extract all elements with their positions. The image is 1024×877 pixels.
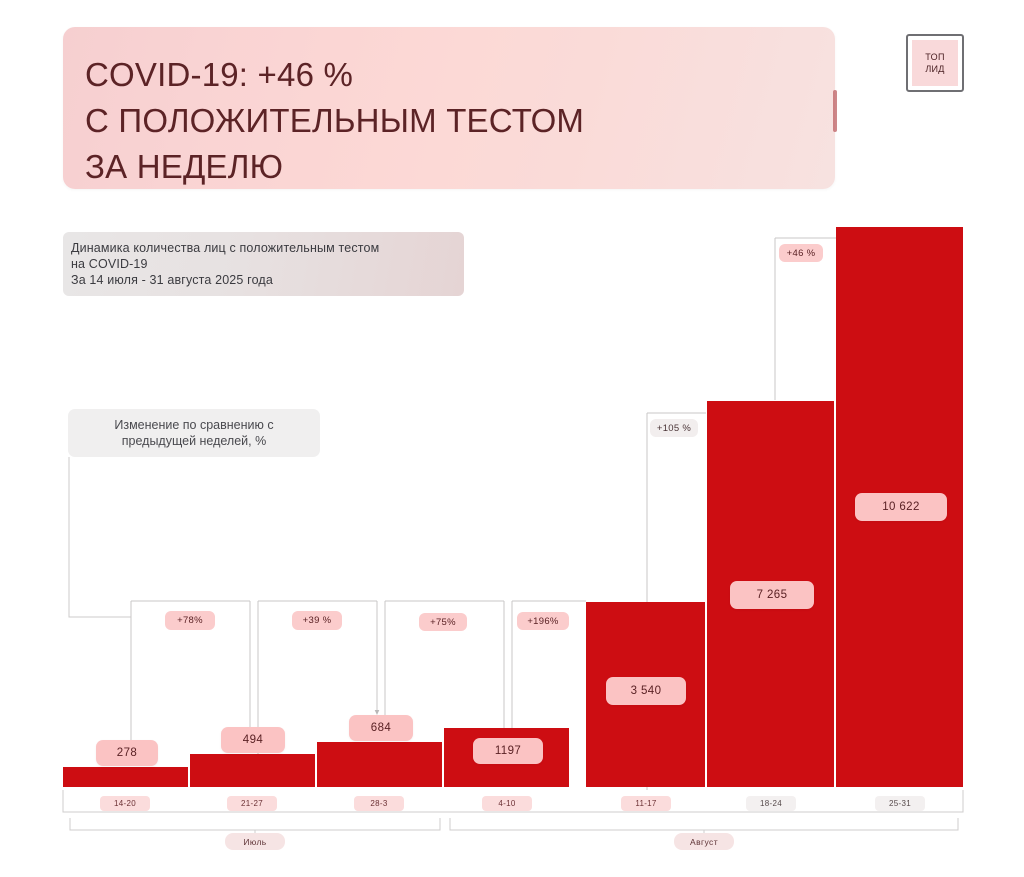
month-label-july: Июль [225, 833, 285, 850]
date-label-25-31: 25-31 [875, 796, 925, 811]
date-label-4-10: 4-10 [482, 796, 532, 811]
change-label-6: +46 % [779, 244, 823, 262]
month-label-august: Август [674, 833, 734, 850]
logo-inner: топ лид [912, 40, 958, 86]
infographic-canvas: COVID-19: +46 % С ПОЛОЖИТЕЛЬНЫМ ТЕСТОМ З… [0, 0, 1024, 877]
date-label-11-17: 11-17 [621, 796, 671, 811]
legend-note: Изменение по сравнению с предыдущей неде… [68, 409, 320, 457]
logo-line-2: лид [925, 63, 944, 75]
value-label-11-17: 3 540 [606, 677, 686, 705]
value-label-14-20: 278 [96, 740, 158, 766]
change-label-4: +196% [517, 612, 569, 630]
change-label-5: +105 % [650, 419, 698, 437]
page-title: COVID-19: +46 % С ПОЛОЖИТЕЛЬНЫМ ТЕСТОМ З… [85, 52, 785, 190]
legend-note-text: Изменение по сравнению с предыдущей неде… [114, 417, 273, 449]
change-label-2: +39 % [292, 611, 342, 630]
subtitle-box: Динамика количества лиц с положительным … [63, 232, 464, 296]
value-label-4-10: 1197 [473, 738, 543, 764]
value-label-18-24: 7 265 [730, 581, 814, 609]
value-label-28-3: 684 [349, 715, 413, 741]
value-label-21-27: 494 [221, 727, 285, 753]
value-label-25-31: 10 622 [855, 493, 947, 521]
change-label-3: +75% [419, 613, 467, 631]
change-label-1: +78% [165, 611, 215, 630]
date-label-18-24: 18-24 [746, 796, 796, 811]
date-label-14-20: 14-20 [100, 796, 150, 811]
date-label-21-27: 21-27 [227, 796, 277, 811]
logo-line-1: топ [925, 51, 944, 63]
bar-21-27 [190, 754, 316, 787]
logo: топ лид [906, 34, 964, 92]
bar-14-20 [63, 767, 189, 787]
date-label-28-3: 28-3 [354, 796, 404, 811]
bar-28-3 [317, 742, 443, 787]
subtitle-text: Динамика количества лиц с положительным … [71, 240, 464, 288]
header-accent-bar [833, 90, 837, 132]
